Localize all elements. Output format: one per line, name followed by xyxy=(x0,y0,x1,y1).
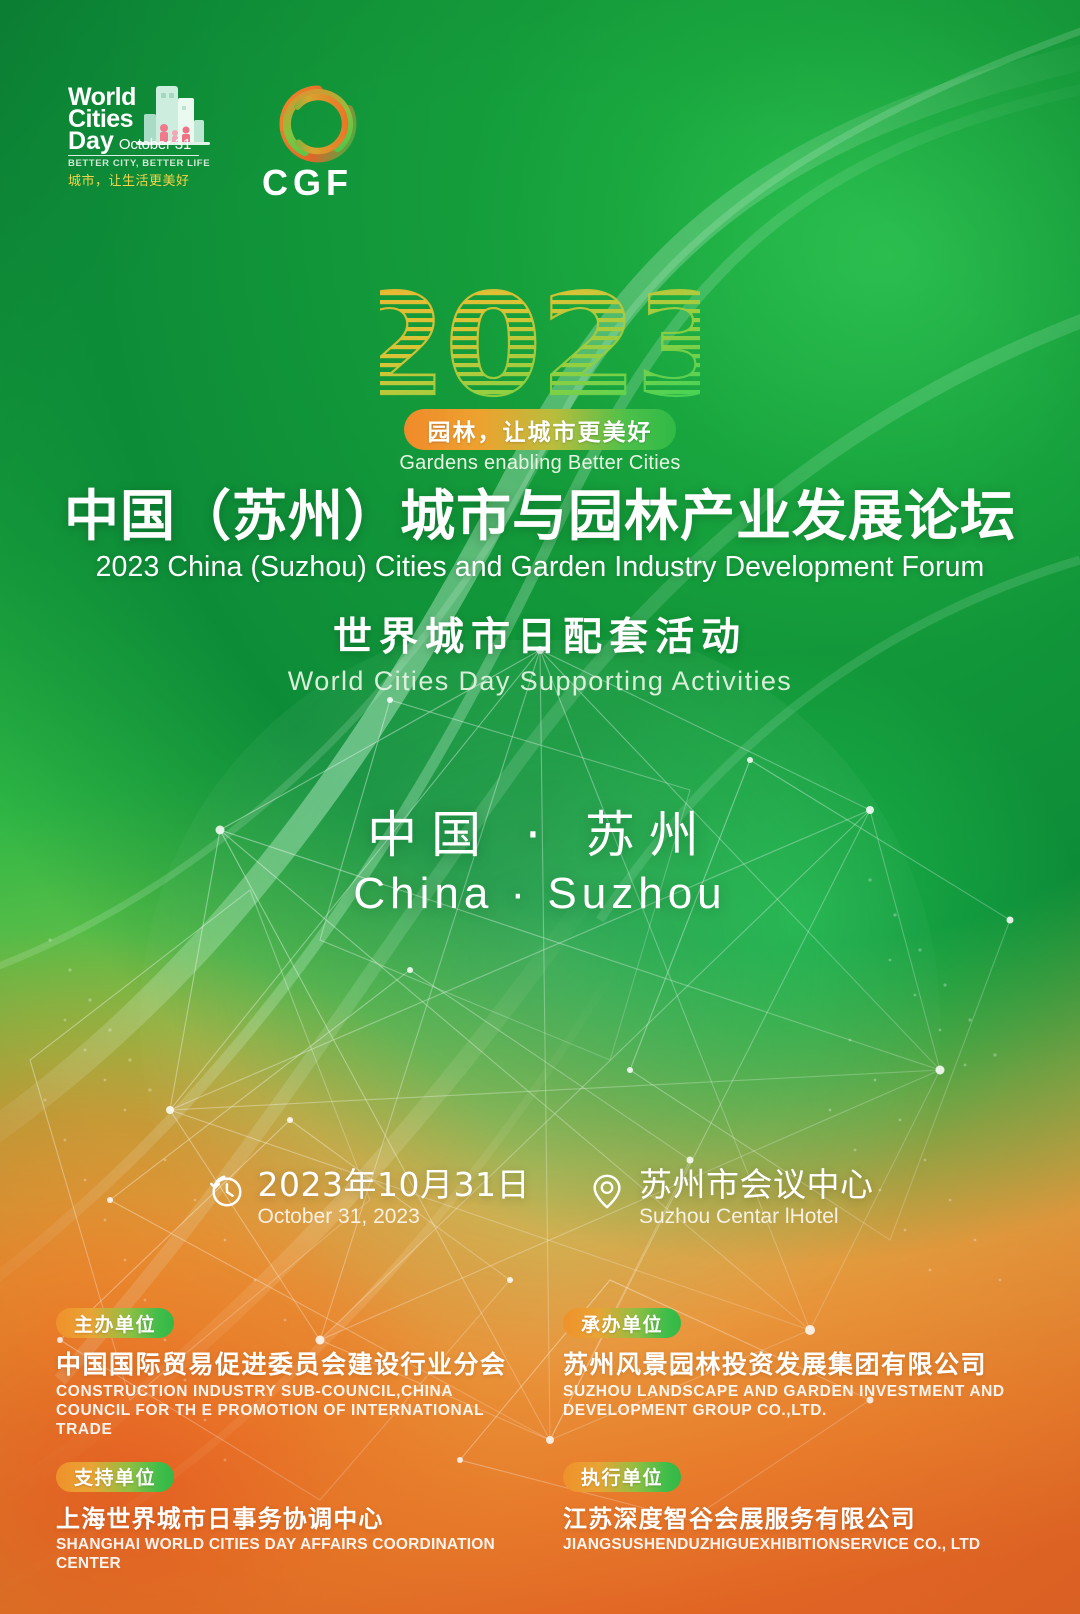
wcd-tagline-en: BETTER CITY, BETTER LIFE xyxy=(68,158,218,169)
event-meta-row: 2023年10月31日 October 31, 2023 苏州市会议中心 Suz… xyxy=(0,1168,1080,1229)
subheadline-en: World Cities Day Supporting Activities xyxy=(0,666,1080,697)
org-block-organizer: 承办单位 苏州风景园林投资发展集团有限公司 SUZHOU LANDSCAPE A… xyxy=(563,1308,1024,1440)
logo-row: World Cities Day October 31 BETTER CITY,… xyxy=(0,0,1080,210)
org-block-executor: 执行单位 江苏深度智谷会展服务有限公司 JIANGSUSHENDUZHIGUEX… xyxy=(563,1462,1024,1574)
world-cities-day-logo: World Cities Day October 31 BETTER CITY,… xyxy=(68,86,218,191)
org-badge-organizer: 承办单位 xyxy=(563,1308,681,1338)
wcd-date: October 31 xyxy=(119,138,191,152)
org-name-en-host: CONSTRUCTION INDUSTRY SUB-COUNCIL,CHINA … xyxy=(56,1383,517,1440)
year-2023-striped: 2023 2023 xyxy=(380,282,700,410)
org-name-en-supporter: SHANGHAI WORLD CITIES DAY AFFAIRS COORDI… xyxy=(56,1536,517,1574)
headline-en: 2023 China (Suzhou) Cities and Garden In… xyxy=(0,551,1080,584)
cgf-ring-icon xyxy=(258,84,378,164)
headline-block: 中国（苏州）城市与园林产业发展论坛 2023 China (Suzhou) Ci… xyxy=(0,487,1080,697)
location-block: 中国 · 苏州 China · Suzhou xyxy=(0,795,1080,919)
event-venue-cn: 苏州市会议中心 xyxy=(639,1168,874,1202)
svg-text:2023: 2023 xyxy=(380,282,700,410)
org-badge-supporter: 支持单位 xyxy=(56,1462,174,1492)
slogan-en: Gardens enabling Better Cities xyxy=(0,452,1080,475)
location-cn: 中国 · 苏州 xyxy=(0,795,1080,867)
wcd-tagline-cn: 城市，让生活更美好 xyxy=(68,170,218,189)
org-name-en-organizer: SUZHOU LANDSCAPE AND GARDEN INVESTMENT A… xyxy=(563,1383,1024,1421)
org-name-cn-executor: 江苏深度智谷会展服务有限公司 xyxy=(563,1499,1024,1534)
org-badge-executor: 执行单位 xyxy=(563,1462,681,1492)
organizations-grid: 主办单位 中国国际贸易促进委员会建设行业分会 CONSTRUCTION INDU… xyxy=(56,1308,1024,1574)
clock-icon xyxy=(207,1172,245,1210)
poster-canvas: World Cities Day October 31 BETTER CITY,… xyxy=(0,0,1080,1614)
map-pin-icon xyxy=(588,1172,626,1210)
event-date-en: October 31, 2023 xyxy=(258,1205,530,1229)
event-venue-en: Suzhou Centar lHotel xyxy=(639,1205,874,1229)
location-en: China · Suzhou xyxy=(0,869,1080,919)
org-name-cn-organizer: 苏州风景园林投资发展集团有限公司 xyxy=(563,1345,1024,1381)
headline-cn: 中国（苏州）城市与园林产业发展论坛 xyxy=(0,487,1080,546)
event-date: 2023年10月31日 October 31, 2023 xyxy=(207,1168,530,1229)
subheadline-cn: 世界城市日配套活动 xyxy=(0,606,1080,662)
cgf-label: CGF xyxy=(262,162,353,204)
org-block-host: 主办单位 中国国际贸易促进委员会建设行业分会 CONSTRUCTION INDU… xyxy=(56,1308,517,1440)
wcd-line-3: Day xyxy=(68,130,114,153)
cgf-logo: CGF xyxy=(258,84,378,199)
event-venue: 苏州市会议中心 Suzhou Centar lHotel xyxy=(588,1168,874,1229)
event-date-cn: 2023年10月31日 xyxy=(258,1168,530,1202)
org-name-cn-supporter: 上海世界城市日事务协调中心 xyxy=(56,1499,517,1534)
year-graphic: 2023 2023 xyxy=(0,282,1080,415)
slogan-pill: 园林，让城市更美好 xyxy=(404,409,676,450)
slogan-cn: 园林，让城市更美好 xyxy=(428,413,653,447)
org-name-cn-host: 中国国际贸易促进委员会建设行业分会 xyxy=(56,1345,517,1381)
org-name-en-executor: JIANGSUSHENDUZHIGUEXHIBITIONSERVICE CO.,… xyxy=(563,1536,1024,1555)
org-block-supporter: 支持单位 上海世界城市日事务协调中心 SHANGHAI WORLD CITIES… xyxy=(56,1462,517,1574)
org-badge-host: 主办单位 xyxy=(56,1308,174,1338)
